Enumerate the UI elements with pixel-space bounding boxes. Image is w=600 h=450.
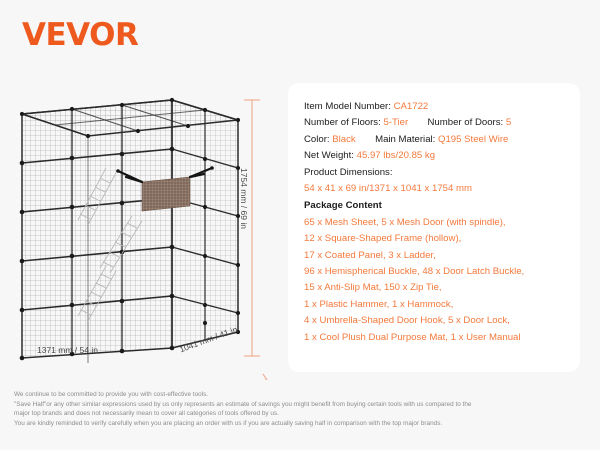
vevor-logo: VEVOR <box>22 20 138 51</box>
product-illustration <box>0 80 290 380</box>
footer-line: major top brands and does not necessaril… <box>14 409 590 419</box>
dimension-width-label: 1371 mm / 54 in <box>37 345 98 355</box>
package-item: 1 x Plastic Hammer, 1 x Hammock, <box>304 297 566 313</box>
package-content-list: 65 x Mesh Sheet, 5 x Mesh Door (with spi… <box>304 215 566 346</box>
spec-row-dimensions-label: Product Dimensions: <box>304 165 566 181</box>
spec-row-color-material: Color: Black Main Material: Q195 Steel W… <box>304 132 566 148</box>
material-value: Q195 Steel Wire <box>438 134 508 145</box>
package-content-heading: Package Content <box>304 198 566 214</box>
dimensions-value: 54 x 41 x 69 in/1371 x 1041 x 1754 mm <box>304 181 566 197</box>
model-value: CA1722 <box>394 101 429 112</box>
color-label: Color: <box>304 134 330 145</box>
floors-label: Number of Floors: <box>304 117 381 128</box>
footer-line: We continue to be committed to provide y… <box>14 390 590 400</box>
model-label: Item Model Number: <box>304 101 391 112</box>
footer-line: You are kindly reminded to verify carefu… <box>14 419 590 429</box>
dimension-height-label: 1754 mm / 69 in <box>239 168 249 229</box>
doors-label: Number of Doors: <box>428 117 504 128</box>
package-item: 12 x Square-Shaped Frame (hollow), <box>304 231 566 247</box>
dimensions-label: Product Dimensions: <box>304 167 393 178</box>
doors-value: 5 <box>506 117 511 128</box>
spec-row-floors-doors: Number of Floors: 5-Tier Number of Doors… <box>304 115 566 131</box>
spec-row-model: Item Model Number: CA1722 <box>304 99 566 115</box>
spec-row-weight: Net Weight: 45.97 lbs/20.85 kg <box>304 148 566 164</box>
weight-label: Net Weight: <box>304 150 354 161</box>
material-label: Main Material: <box>375 134 435 145</box>
package-item: 1 x Cool Plush Dual Purpose Mat, 1 x Use… <box>304 330 566 346</box>
package-item: 15 x Anti-Slip Mat, 150 x Zip Tie, <box>304 280 566 296</box>
package-item: 17 x Coated Panel, 3 x Ladder, <box>304 248 566 264</box>
color-value: Black <box>332 134 355 145</box>
package-item: 4 x Umbrella-Shaped Door Hook, 5 x Door … <box>304 313 566 329</box>
floors-value: 5-Tier <box>383 117 408 128</box>
footer-line: "Save Half"or any other similar expressi… <box>14 400 590 410</box>
specification-card: Item Model Number: CA1722 Number of Floo… <box>288 83 580 372</box>
footer-disclaimer: We continue to be committed to provide y… <box>14 390 590 428</box>
package-item: 65 x Mesh Sheet, 5 x Mesh Door (with spi… <box>304 215 566 231</box>
weight-value: 45.97 lbs/20.85 kg <box>357 150 435 161</box>
cat-cage-drawing <box>0 80 290 380</box>
cage-front-face <box>22 100 172 358</box>
package-item: 96 x Hemispherical Buckle, 48 x Door Lat… <box>304 264 566 280</box>
